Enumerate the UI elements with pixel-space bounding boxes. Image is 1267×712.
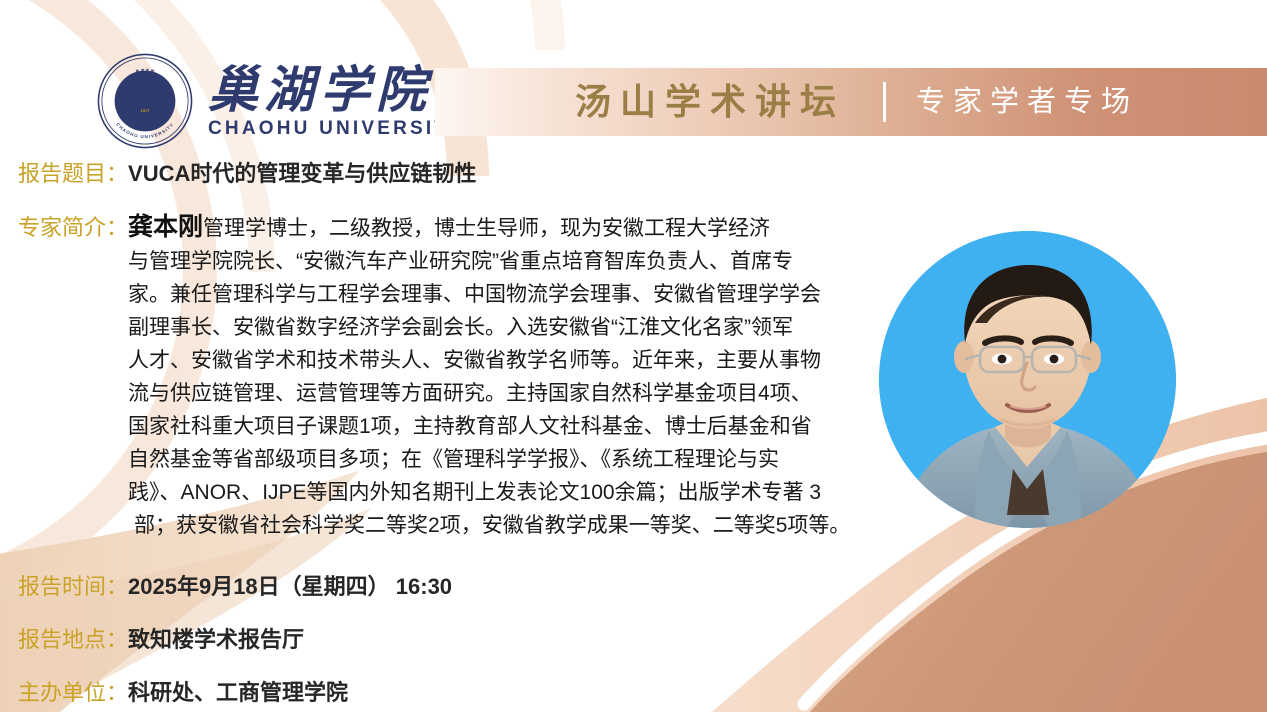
report-time-value: 2025年9月18日（星期四） 16:30	[128, 571, 452, 603]
speaker-portrait	[879, 231, 1176, 528]
university-wordmark: 巢湖学院 CHAOHU UNIVERSITY	[208, 61, 465, 141]
speaker-bio-row: 专家简介： 龚本刚管理学博士，二级教授，博士生导师，现为安徽工程大学经济 与管理…	[18, 211, 856, 542]
university-name-en: CHAOHU UNIVERSITY	[208, 118, 465, 141]
banner-main-title: 汤山学术讲坛	[575, 84, 845, 120]
bio-line-text: 管理学博士，二级教授，博士生导师，现为安徽工程大学经济	[203, 217, 770, 240]
forum-banner: 汤山学术讲坛 专家学者专场	[435, 68, 1267, 136]
university-name-cn: 巢湖学院	[208, 65, 465, 116]
bio-line: 与管理学院院长、“安徽汽车产业研究院”省重点培育智库负责人、首席专	[128, 245, 856, 278]
bio-line: 自然基金等省部级项目多项；在《管理科学学报》、《系统工程理论与实	[128, 443, 856, 476]
speaker-name: 龚本刚	[128, 213, 203, 241]
speaker-bio-body: 龚本刚管理学博士，二级教授，博士生导师，现为安徽工程大学经济 与管理学院院长、“…	[128, 211, 856, 542]
report-place-label: 报告地点：	[18, 624, 128, 656]
chaohu-university-seal-icon: 巢 湖 学 院 CHAOHU UNIVERSITY 1977	[96, 52, 194, 150]
speaker-portrait-image	[879, 231, 1176, 528]
report-title-label: 报告题目：	[18, 158, 128, 190]
report-time-row: 报告时间： 2025年9月18日（星期四） 16:30	[18, 571, 452, 603]
banner-divider-icon	[883, 82, 886, 122]
report-time-label: 报告时间：	[18, 571, 128, 603]
bio-line: 人才、安徽省学术和技术带头人、安徽省教学名师等。近年来，主要从事物	[128, 344, 856, 377]
bio-line: 部；获安徽省社会科学奖二等奖2项，安徽省教学成果一等奖、二等奖5项等。	[128, 509, 856, 542]
svg-text:1977: 1977	[141, 108, 150, 113]
report-title-value: VUCA时代的管理变革与供应链韧性	[128, 158, 476, 190]
report-title-row: 报告题目： VUCA时代的管理变革与供应链韧性	[18, 158, 476, 190]
bio-line: 践》、ANOR、IJPE等国内外知名期刊上发表论文100余篇；出版学术专著 3	[128, 476, 856, 509]
banner-sub-title: 专家学者专场	[916, 88, 1138, 117]
bio-line: 龚本刚管理学博士，二级教授，博士生导师，现为安徽工程大学经济	[128, 211, 856, 245]
lecture-poster: 巢 湖 学 院 CHAOHU UNIVERSITY 1977 巢湖学院 CHAO…	[0, 0, 1267, 712]
report-host-value: 科研处、工商管理学院	[128, 677, 348, 709]
speaker-bio-label: 专家简介：	[18, 211, 128, 244]
bio-line: 副理事长、安徽省数字经济学会副会长。入选安徽省“江淮文化名家”领军	[128, 311, 856, 344]
report-host-label: 主办单位：	[18, 677, 128, 709]
report-place-row: 报告地点： 致知楼学术报告厅	[18, 624, 304, 656]
bio-line: 流与供应链管理、运营管理等方面研究。主持国家自然科学基金项目4项、	[128, 377, 856, 410]
bio-line: 家。兼任管理科学与工程学会理事、中国物流学会理事、安徽省管理学学会	[128, 278, 856, 311]
report-place-value: 致知楼学术报告厅	[128, 624, 304, 656]
report-host-row: 主办单位： 科研处、工商管理学院	[18, 677, 348, 709]
university-logo-block: 巢 湖 学 院 CHAOHU UNIVERSITY 1977 巢湖学院 CHAO…	[96, 52, 465, 150]
bio-line: 国家社科重大项目子课题1项，主持教育部人文社科基金、博士后基金和省	[128, 410, 856, 443]
